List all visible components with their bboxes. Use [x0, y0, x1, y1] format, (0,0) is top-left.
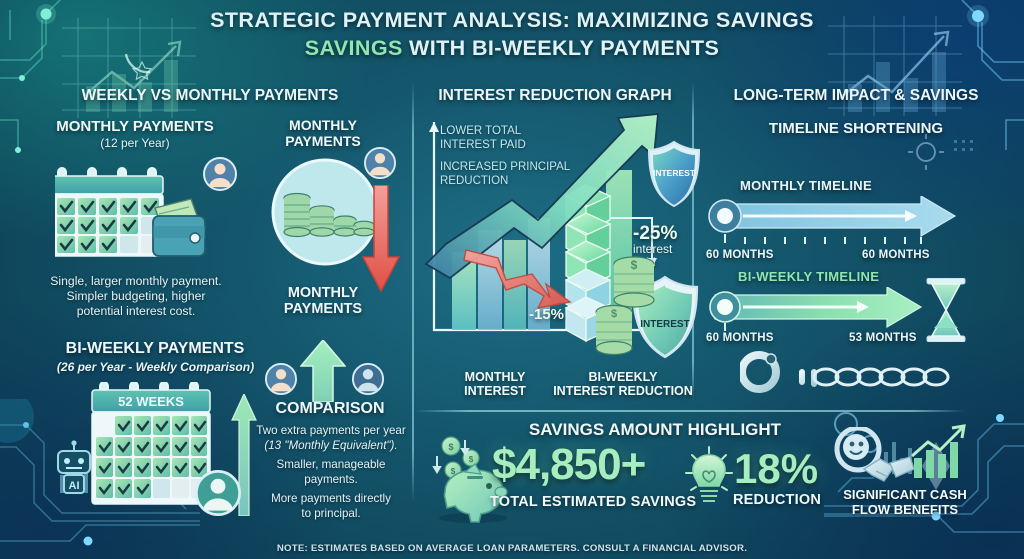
interest-shield-icon: INTEREST [629, 275, 701, 361]
monthly-desc-line-1: Single, larger monthly payment. [22, 274, 250, 289]
reduction-percent: 18% [734, 448, 818, 490]
comparison-line-2-text: (13 "Monthly Equivalent"). [264, 439, 397, 452]
graph-note-1-line-1: LOWER TOTAL [440, 124, 575, 138]
svg-text:$: $ [469, 455, 474, 464]
svg-text:$: $ [611, 308, 617, 320]
benefit-line-1: SIGNIFICANT CASH [830, 487, 980, 502]
comparison-title: COMPARISON [250, 400, 410, 418]
monthly-timeline-label: MONTHLY TIMELINE [740, 178, 872, 193]
decline-percent-badge: -15% [529, 306, 564, 323]
graph-note-2: INCREASED PRINCIPAL REDUCTION [440, 160, 592, 189]
graph-note-2-line-2: REDUCTION [440, 174, 592, 188]
monthly-stack-label-top: MONTHLY PAYMENTS [268, 118, 378, 149]
comparison-description: Two extra payments per year (13 "Monthly… [243, 423, 419, 521]
graph-note-1-line-2: INTEREST PAID [440, 138, 575, 152]
key-icon [740, 350, 826, 398]
svg-text:$: $ [448, 442, 453, 452]
monthly-payments-subtitle: (12 per Year) [30, 136, 240, 151]
heading-left-panel: WEEKLY VS MONTHLY PAYMENTS [20, 87, 400, 105]
biweekly-timeline-start: 60 MONTHS [706, 332, 774, 344]
monthly-timeline-end: 60 MONTHS [862, 249, 930, 261]
axis-biweekly-line-2: INTEREST REDUCTION [550, 384, 696, 398]
graph-note-1: LOWER TOTAL INTEREST PAID [440, 124, 575, 153]
savings-heading: SAVINGS AMOUNT HIGHLIGHT [490, 420, 820, 440]
biweekly-timeline-label: BI-WEEKLY TIMELINE [738, 269, 879, 284]
timeline-subheading: TIMELINE SHORTENING [698, 120, 1014, 137]
calendar-badge-52-weeks: 52 WEEKS [118, 394, 184, 409]
comparison-line-6: to principal. [243, 506, 419, 521]
comparison-line-4: payments. [243, 472, 419, 487]
callout-percent: -25% [633, 224, 695, 243]
interest-shield-icon: INTEREST [645, 140, 703, 210]
title-line-2-rest: WITH BI-WEEKLY PAYMENTS [403, 36, 720, 60]
hourglass-icon [924, 278, 968, 342]
monthly-payments-title: MONTHLY PAYMENTS [30, 118, 240, 135]
title-line-2: SAVINGS WITH BI-WEEKLY PAYMENTS [0, 36, 1024, 61]
monthly-desc-line-2: Simpler budgeting, higher [22, 289, 250, 304]
biweekly-timeline-bar [707, 287, 939, 331]
svg-text:$: $ [451, 467, 456, 476]
broken-chain-icon [812, 360, 954, 394]
comparison-line-5: More payments directly [243, 491, 419, 506]
heading-middle-panel: INTEREST REDUCTION GRAPH [420, 87, 690, 105]
footer-note: NOTE: ESTIMATES BASED ON AVERAGE LOAN PA… [0, 543, 1024, 554]
svg-text:AI: AI [69, 480, 80, 492]
infographic-canvas: AI STRATEGIC PAYMENT ANALYSIS: MAXIMIZIN… [0, 0, 1024, 559]
biweekly-payments-title: BI-WEEKLY PAYMENTS [40, 340, 270, 358]
savings-amount: $4,850+ [492, 443, 645, 487]
axis-caption-biweekly: BI-WEEKLY INTEREST REDUCTION [550, 370, 696, 399]
axis-monthly-line-1: MONTHLY [440, 370, 550, 384]
axis-monthly-line-2: INTEREST [440, 384, 550, 398]
axis-caption-monthly: MONTHLY INTEREST [440, 370, 550, 399]
benefit-line-2: FLOW BENEFITS [830, 502, 980, 517]
reduction-caption: REDUCTION [733, 492, 821, 508]
handshake-icon [832, 427, 914, 493]
monthly-timeline-start: 60 MONTHS [706, 249, 774, 261]
axis-biweekly-line-1: BI-WEEKLY [550, 370, 696, 384]
monthly-timeline-bar [707, 196, 959, 248]
graph-note-2-line-1: INCREASED PRINCIPAL [440, 160, 592, 174]
heading-right-panel: LONG-TERM IMPACT & SAVINGS [698, 87, 1014, 105]
coin-stacks-icon [271, 158, 379, 266]
shield-label-top: INTEREST [653, 168, 696, 178]
falling-coins-icon: $ $ $ [434, 437, 479, 478]
biweekly-payments-subtitle: (26 per Year - Weekly Comparison) [28, 360, 283, 374]
growth-chart-icon [906, 424, 968, 482]
wallet-cash-icon [153, 199, 205, 256]
interest-callout: -25% interest paid [633, 224, 695, 269]
comparison-line-1: Two extra payments per year [243, 423, 419, 438]
user-avatar-icon [364, 147, 396, 179]
user-avatar-icon [352, 363, 384, 395]
corner-circuit-bottom-right [814, 394, 1024, 559]
calendar-icon: 52 WEEKS [88, 382, 228, 514]
down-arrow-icon [362, 185, 400, 295]
robot-ai-icon: AI [52, 439, 96, 497]
up-arrow-icon [300, 340, 346, 402]
cash-flow-benefit-caption: SIGNIFICANT CASH FLOW BENEFITS [830, 487, 980, 517]
comparison-line-2: (13 "Monthly Equivalent"). [243, 438, 419, 453]
calendar-icon [55, 156, 220, 266]
callout-line-2: paid [633, 256, 695, 269]
corner-circuit-bottom-left [0, 399, 200, 559]
monthly-payments-description: Single, larger monthly payment. Simpler … [22, 274, 250, 319]
page-title: STRATEGIC PAYMENT ANALYSIS: MAXIMIZING S… [0, 8, 1024, 61]
monthly-stack-top-text: MONTHLY PAYMENTS [285, 117, 360, 149]
monthly-stack-label-bottom: MONTHLY PAYMENTS [268, 285, 378, 317]
divider-savings [414, 410, 966, 412]
monthly-stack-bottom-text: MONTHLY PAYMENTS [284, 285, 362, 317]
monthly-desc-line-3: potential interest cost. [22, 304, 250, 319]
biweekly-timeline-end: 53 MONTHS [849, 332, 917, 344]
user-avatar-icon [203, 157, 237, 191]
comparison-line-3: Smaller, manageable [243, 457, 419, 472]
savings-amount-caption: TOTAL ESTIMATED SAVINGS [490, 494, 696, 510]
shield-label-bottom: INTEREST [640, 319, 689, 330]
title-line-1: STRATEGIC PAYMENT ANALYSIS: MAXIMIZING S… [0, 8, 1024, 33]
user-avatar-icon [195, 470, 241, 516]
title-highlight: SAVINGS [305, 36, 403, 60]
